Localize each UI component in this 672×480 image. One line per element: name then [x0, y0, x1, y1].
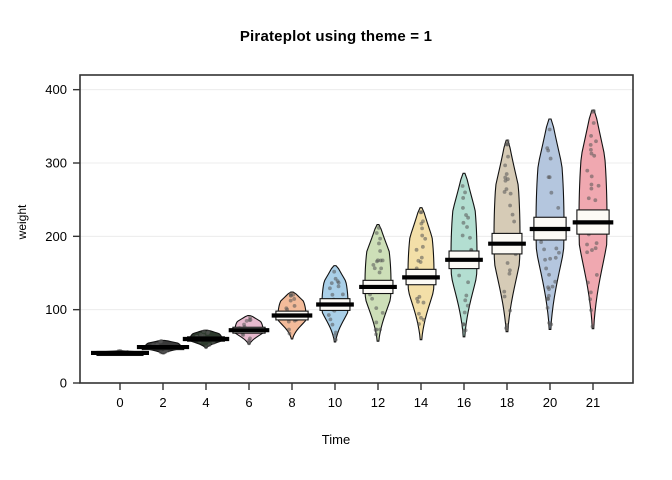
violin-group	[272, 292, 313, 339]
data-point	[548, 128, 552, 132]
data-point	[248, 336, 252, 340]
data-point	[379, 266, 383, 270]
data-point	[463, 311, 467, 315]
data-point	[554, 247, 558, 251]
data-point	[421, 219, 425, 223]
data-point	[549, 191, 553, 195]
x-tick-label: 4	[202, 395, 209, 410]
data-point	[508, 272, 512, 276]
data-point	[415, 297, 419, 301]
data-point	[592, 154, 596, 158]
data-point	[332, 270, 336, 274]
data-point	[594, 246, 598, 250]
data-point	[247, 340, 251, 344]
data-point	[420, 234, 424, 238]
data-point	[330, 281, 334, 285]
data-point	[549, 157, 553, 161]
data-point	[374, 328, 378, 332]
data-point	[554, 256, 558, 260]
data-point	[423, 237, 427, 241]
data-point	[417, 312, 421, 316]
y-tick-label: 300	[45, 156, 67, 171]
x-tick-label: 10	[328, 395, 342, 410]
data-point	[506, 261, 510, 265]
data-point	[461, 184, 465, 188]
data-point	[542, 247, 546, 251]
data-point	[462, 322, 466, 326]
data-point	[159, 340, 163, 344]
data-point	[505, 172, 509, 176]
data-point	[585, 243, 589, 247]
data-point	[508, 204, 512, 208]
data-point	[462, 329, 466, 333]
data-point	[504, 326, 508, 330]
x-axis-ticks: 0246810121416182021	[116, 383, 600, 410]
data-point	[544, 267, 548, 271]
x-tick-label: 0	[116, 395, 123, 410]
data-point	[585, 169, 589, 173]
data-point	[334, 338, 338, 342]
data-point	[377, 226, 381, 230]
violin-group	[445, 173, 483, 337]
violin-group	[488, 139, 526, 332]
x-tick-label: 14	[414, 395, 428, 410]
data-point	[422, 318, 426, 322]
y-axis-ticks: 0100200300400	[45, 82, 80, 390]
data-point	[289, 299, 293, 303]
x-tick-label: 21	[586, 395, 600, 410]
data-point	[461, 206, 465, 210]
violin-group	[183, 330, 229, 350]
data-point	[589, 148, 593, 152]
data-point	[506, 177, 510, 181]
data-point	[381, 311, 385, 315]
data-point	[378, 237, 382, 241]
data-point	[547, 273, 551, 277]
data-point	[545, 146, 549, 150]
data-point	[333, 334, 337, 338]
data-point	[159, 350, 163, 354]
data-point	[553, 280, 557, 284]
plot-canvas: 0100200300400 0246810121416182021	[0, 0, 672, 480]
data-point	[590, 187, 594, 191]
violin-group	[229, 315, 270, 345]
data-point	[374, 333, 378, 337]
data-point	[422, 301, 426, 305]
data-point	[506, 155, 510, 159]
x-tick-label: 2	[159, 395, 166, 410]
data-point	[464, 294, 468, 298]
data-point	[204, 345, 208, 349]
y-tick-label: 0	[60, 376, 67, 391]
data-point	[457, 274, 461, 278]
data-point	[417, 322, 421, 326]
x-tick-label: 20	[543, 395, 557, 410]
data-point	[378, 271, 382, 275]
data-point	[546, 297, 550, 301]
data-point	[589, 291, 593, 295]
x-tick-label: 16	[457, 395, 471, 410]
x-tick-label: 8	[288, 395, 295, 410]
violin-group	[359, 225, 397, 342]
x-tick-label: 18	[500, 395, 514, 410]
data-point	[549, 322, 553, 326]
data-point	[589, 308, 593, 312]
data-point	[503, 295, 507, 299]
x-tick-label: 6	[245, 395, 252, 410]
data-point	[415, 248, 419, 252]
data-point	[465, 225, 469, 229]
data-point	[546, 306, 550, 310]
data-point	[503, 190, 507, 194]
data-point	[371, 263, 375, 267]
data-point	[557, 251, 561, 255]
data-point	[461, 234, 465, 238]
data-point	[503, 164, 507, 168]
violin-group	[91, 349, 149, 356]
data-point	[331, 293, 335, 297]
data-point	[508, 268, 512, 272]
data-point	[589, 143, 593, 147]
data-point	[547, 175, 551, 179]
data-point	[327, 313, 331, 317]
data-point	[593, 198, 597, 202]
x-tick-label: 12	[371, 395, 385, 410]
data-point	[370, 297, 374, 301]
data-point	[551, 285, 555, 289]
data-point	[207, 343, 211, 347]
data-point	[466, 304, 470, 308]
data-point	[292, 297, 296, 301]
data-point	[293, 304, 297, 308]
data-point	[337, 284, 341, 288]
data-point	[163, 350, 167, 354]
data-point	[586, 281, 590, 285]
data-point	[378, 249, 382, 253]
data-point	[547, 287, 551, 291]
data-point	[379, 259, 383, 263]
data-point	[341, 293, 345, 297]
data-point	[597, 184, 601, 188]
data-point	[502, 290, 506, 294]
data-point	[291, 293, 295, 297]
data-point	[595, 273, 599, 277]
data-point	[373, 266, 377, 270]
data-point	[329, 317, 333, 321]
data-point	[420, 256, 424, 260]
data-point	[556, 206, 560, 210]
data-point	[595, 241, 599, 245]
data-point	[585, 250, 589, 254]
data-point	[592, 121, 596, 125]
data-point	[328, 286, 332, 290]
data-point	[288, 332, 292, 336]
data-point	[591, 325, 595, 329]
violins-group	[91, 109, 613, 356]
data-point	[466, 280, 470, 284]
data-point	[462, 221, 466, 225]
data-point	[590, 183, 594, 187]
violin-group	[316, 266, 354, 342]
data-point	[461, 196, 465, 200]
data-point	[463, 191, 467, 195]
data-point	[287, 328, 291, 332]
data-point	[378, 328, 382, 332]
data-point	[594, 139, 598, 143]
y-tick-label: 200	[45, 229, 67, 244]
data-point	[589, 134, 593, 138]
data-point	[587, 196, 591, 200]
data-point	[375, 231, 379, 235]
y-tick-label: 100	[45, 302, 67, 317]
data-point	[336, 279, 340, 283]
data-point	[543, 258, 547, 262]
data-point	[464, 213, 468, 217]
data-point	[590, 175, 594, 179]
data-point	[419, 260, 423, 264]
pirateplot-figure: Pirateplot using theme = 1 weight Time 0…	[0, 0, 672, 480]
data-point	[421, 245, 425, 249]
data-point	[374, 306, 378, 310]
data-point	[419, 211, 423, 215]
data-point	[588, 297, 592, 301]
data-point	[245, 319, 249, 323]
violin-group	[402, 208, 440, 340]
data-point	[512, 220, 516, 224]
data-point	[539, 240, 543, 244]
data-point	[511, 213, 515, 217]
y-tick-label: 400	[45, 82, 67, 97]
data-point	[377, 242, 381, 246]
data-point	[506, 142, 510, 146]
data-point	[590, 248, 594, 252]
data-point	[206, 331, 210, 335]
data-point	[548, 257, 552, 261]
data-point	[509, 192, 513, 196]
data-point	[591, 110, 595, 114]
violin-group	[530, 119, 571, 329]
data-point	[202, 330, 206, 334]
data-point	[331, 323, 335, 327]
violin-group	[573, 109, 614, 329]
data-point	[468, 236, 472, 240]
data-point	[463, 298, 467, 302]
data-point	[420, 226, 424, 230]
data-point	[508, 309, 512, 313]
data-point	[374, 321, 378, 325]
